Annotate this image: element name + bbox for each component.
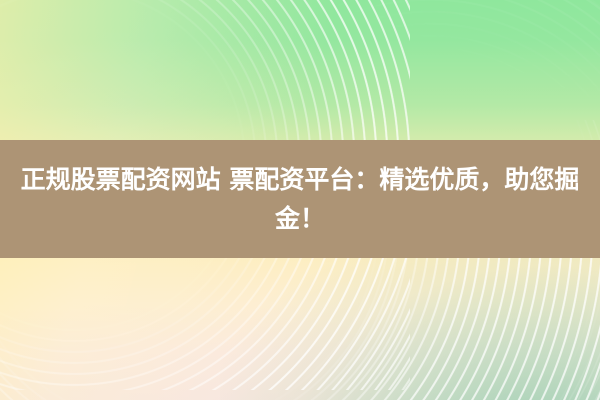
banner-caption-text: 正规股票配资网站 票配资平台：精选优质，助您掘金！ <box>0 160 600 238</box>
caption-band: 正规股票配资网站 票配资平台：精选优质，助您掘金！ <box>0 140 600 258</box>
promo-banner: 正规股票配资网站 票配资平台：精选优质，助您掘金！ <box>0 0 600 400</box>
